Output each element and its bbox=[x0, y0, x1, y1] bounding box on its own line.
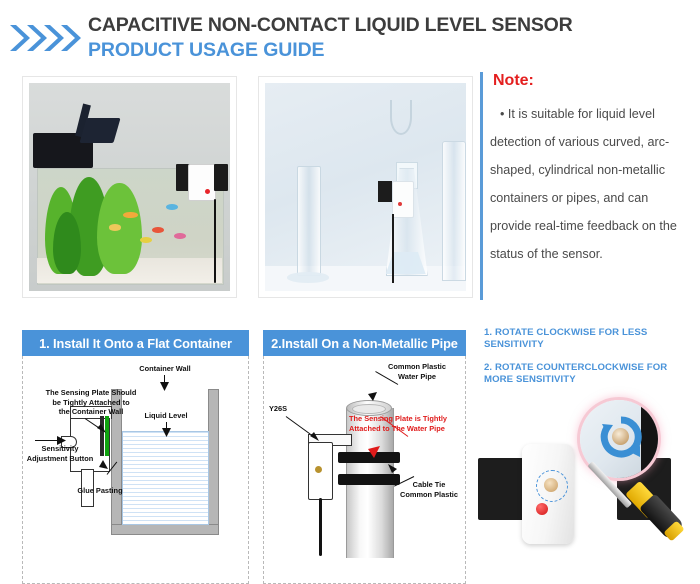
note-block: Note: • It is suitable for liquid level … bbox=[480, 72, 690, 300]
screw-icon bbox=[315, 466, 322, 473]
label-liquid-level: Liquid Level bbox=[133, 411, 199, 421]
panel-1-heading: 1. Install It Onto a Flat Container bbox=[22, 330, 249, 356]
panel-non-metallic-pipe: 2.Install On a Non-Metallic Pipe Common … bbox=[263, 330, 466, 584]
arrow-diag-icon bbox=[368, 392, 377, 401]
chevron-right-icon bbox=[59, 23, 81, 53]
sensing-plate bbox=[105, 416, 109, 456]
panel-1-diagram: Container Wall The Sensing Plate Shouldb… bbox=[22, 356, 249, 584]
aquarium-application-photo bbox=[22, 76, 237, 298]
label-glue-pasting: Glue Pasting bbox=[61, 486, 139, 496]
arrow-diag-red-icon bbox=[368, 446, 380, 458]
page-header: CAPACITIVE NON-CONTACT LIQUID LEVEL SENS… bbox=[0, 0, 700, 66]
label-sensitivity-button: SensitivityAdjustment Button bbox=[23, 444, 97, 463]
label-sensing-plate-pipe: The Sensing Plate is TightlyAttached to … bbox=[349, 414, 467, 433]
note-title: Note: bbox=[493, 72, 534, 90]
sensor-device bbox=[392, 181, 414, 218]
panel-flat-container: 1. Install It Onto a Flat Container Cont… bbox=[22, 330, 249, 584]
chevron-group bbox=[8, 23, 86, 53]
lab-glassware-application-photo bbox=[258, 76, 473, 298]
arrow-diag-icon bbox=[99, 460, 108, 469]
sensor-adjustment-illustration bbox=[472, 398, 698, 570]
rotation-line-2: 2. ROTATE COUNTERCLOCKWISE FOR MORE SENS… bbox=[484, 362, 689, 386]
arrow-down-icon bbox=[162, 428, 171, 437]
panel-2-diagram: Common PlasticWater Pipe Y26S The Sensin… bbox=[263, 356, 466, 584]
rotation-line-1: 1. ROTATE CLOCKWISE FOR LESS SENSITIVITY bbox=[484, 327, 689, 351]
arrow-right-icon bbox=[57, 436, 66, 445]
rotation-instructions: 1. ROTATE CLOCKWISE FOR LESS SENSITIVITY… bbox=[484, 327, 689, 386]
page-title: CAPACITIVE NON-CONTACT LIQUID LEVEL SENS… bbox=[88, 13, 688, 37]
panel-2-heading: 2.Install On a Non-Metallic Pipe bbox=[263, 330, 466, 356]
note-body: • It is suitable for liquid level detect… bbox=[490, 100, 686, 268]
header-titles: CAPACITIVE NON-CONTACT LIQUID LEVEL SENS… bbox=[88, 13, 688, 62]
label-sensing-plate: The Sensing Plate Shouldbe Tightly Attac… bbox=[33, 388, 149, 417]
status-led bbox=[536, 503, 548, 515]
note-accent-bar bbox=[480, 72, 483, 300]
arrow-down-icon bbox=[160, 382, 169, 391]
liquid-fill bbox=[122, 431, 209, 525]
arrow-diag-icon bbox=[97, 424, 106, 433]
arrow-diag-icon bbox=[310, 432, 319, 441]
page-subtitle: PRODUCT USAGE GUIDE bbox=[88, 38, 688, 62]
highlight-ring bbox=[536, 470, 568, 502]
label-cable-tie: Cable TieCommon Plastic bbox=[392, 480, 466, 499]
sensor-device bbox=[188, 164, 216, 201]
arrow-diag-icon bbox=[388, 464, 397, 473]
label-container-wall: Container Wall bbox=[123, 364, 207, 374]
cable-tie bbox=[338, 474, 400, 485]
label-model-y26s: Y26S bbox=[269, 404, 309, 414]
